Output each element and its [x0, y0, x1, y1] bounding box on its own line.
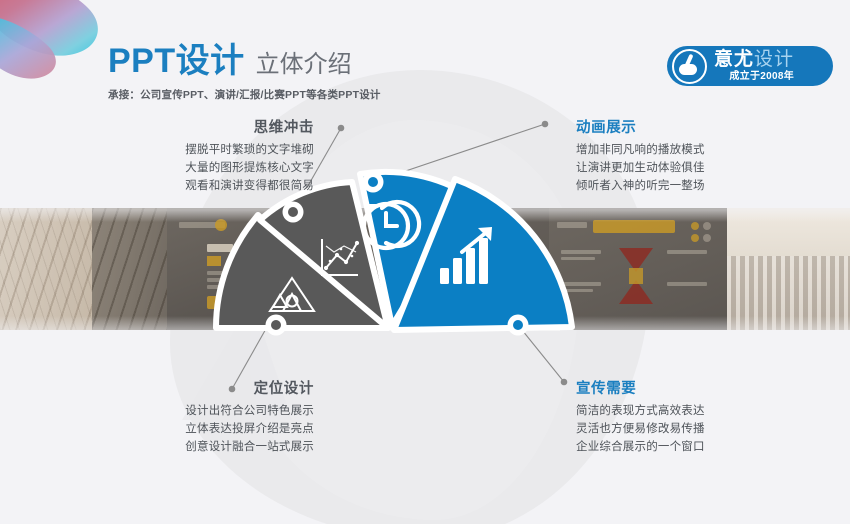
feature-block-top-left: 思维冲击 摆脱平时繁琐的文字堆砌 大量的图形提炼核心文字 观看和演讲变得都很简易 [80, 121, 314, 195]
brand-name-light: 设计 [754, 49, 794, 70]
node-bottom-right[interactable] [508, 315, 529, 336]
feature-line-3: 倾听者入神的听完一整场 [576, 178, 816, 196]
feature-block-top-right: 动画展示 增加非同凡响的播放模式 让演讲更加生动体验俱佳 倾听者入神的听完一整场 [576, 121, 816, 195]
node-top-left[interactable] [283, 202, 304, 223]
brand-logo-text: 意尤设计 成立于2008年 [714, 50, 794, 82]
node-bottom-left[interactable] [266, 315, 287, 336]
feature-line-1: 摆脱平时繁琐的文字堆砌 [80, 142, 314, 160]
brand-logo[interactable]: 意尤设计 成立于2008年 [667, 46, 833, 86]
page-description: 承接：公司宣传PPT、演讲/汇报/比赛PPT等各类PPT设计 [108, 87, 381, 102]
pen-in-circle-icon [672, 49, 707, 84]
brand-established: 成立于2008年 [714, 72, 794, 82]
feature-line-1: 设计出符合公司特色展示 [80, 403, 314, 421]
endpoint-dot-bottom-right [561, 379, 568, 386]
brand-name-strong: 意尤 [714, 49, 754, 70]
feature-line-2: 让演讲更加生动体验俱佳 [576, 160, 816, 178]
feature-block-bottom-right: 宣传需要 简洁的表现方式高效表达 灵活也方便易修改易传播 企业综合展示的一个窗口 [576, 382, 816, 456]
feature-line-3: 观看和演讲变得都很简易 [80, 178, 314, 196]
feature-title: 动画展示 [576, 121, 816, 137]
feature-line-3: 创意设计融合一站式展示 [80, 439, 314, 457]
feature-line-1: 增加非同凡响的播放模式 [576, 142, 816, 160]
page-title: PPT设计 [108, 44, 245, 78]
feature-line-2: 立体表达投屏介绍是亮点 [80, 421, 314, 439]
feature-title: 定位设计 [80, 382, 314, 398]
page-subtitle: 立体介绍 [256, 53, 352, 78]
feature-title: 宣传需要 [576, 382, 816, 398]
slide-canvas: PPT设计 立体介绍 承接：公司宣传PPT、演讲/汇报/比赛PPT等各类PPT设… [0, 0, 850, 524]
feature-line-2: 灵活也方便易修改易传播 [576, 421, 816, 439]
feature-line-3: 企业综合展示的一个窗口 [576, 439, 816, 457]
endpoint-dot-top-right [542, 121, 549, 128]
feature-line-2: 大量的图形提炼核心文字 [80, 160, 314, 178]
page-header: PPT设计 立体介绍 承接：公司宣传PPT、演讲/汇报/比赛PPT等各类PPT设… [108, 44, 381, 102]
feature-line-1: 简洁的表现方式高效表达 [576, 403, 816, 421]
feature-block-bottom-left: 定位设计 设计出符合公司特色展示 立体表达投屏介绍是亮点 创意设计融合一站式展示 [80, 382, 314, 456]
endpoint-dot-top-left [338, 125, 345, 132]
node-top-right[interactable] [363, 172, 384, 193]
feature-title: 思维冲击 [80, 121, 314, 137]
connector-bottom-right [518, 325, 564, 382]
